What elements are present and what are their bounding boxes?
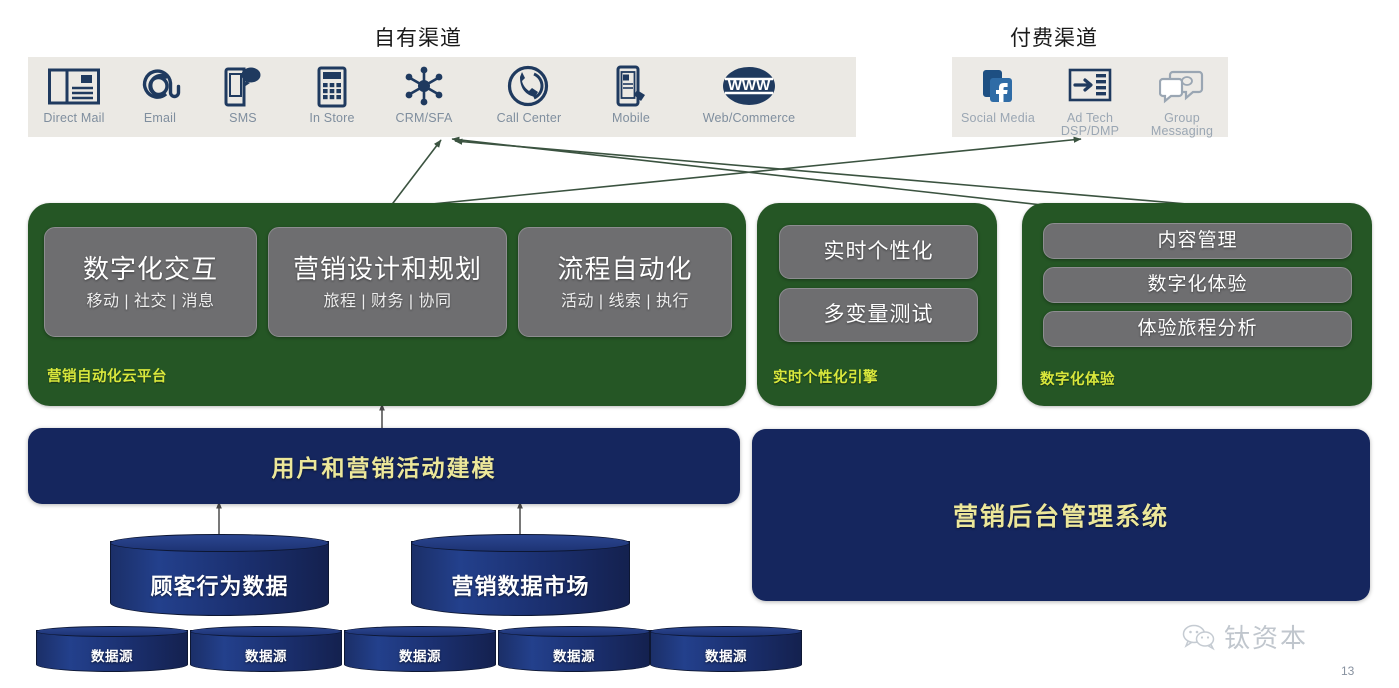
data-source-cylinder[interactable]: 数据源	[344, 626, 496, 672]
channel-label: Group Messaging	[1151, 112, 1213, 137]
in-store-keypad-icon	[315, 64, 349, 108]
capability-card-multivariate-testing[interactable]: 多变量测试	[779, 288, 978, 342]
channel-label: SMS	[229, 112, 257, 125]
card-title: 数字化体验	[1147, 270, 1247, 300]
www-globe-icon: WWW	[721, 65, 777, 108]
channel-in-store[interactable]: In Store	[286, 57, 378, 125]
channel-crm-sfa[interactable]: CRM/SFA	[378, 57, 470, 125]
direct-mail-icon	[48, 65, 100, 108]
crm-network-icon	[401, 64, 447, 108]
channel-label: Web/Commerce	[703, 112, 795, 125]
capability-card-realtime-personalization[interactable]: 实时个性化	[779, 225, 978, 279]
cylinder-label: 数据源	[650, 626, 802, 678]
channel-web-commerce[interactable]: WWWWeb/Commerce	[674, 57, 824, 125]
slide-canvas: 自有渠道 付费渠道 Direct Mail Email SMS	[0, 0, 1399, 688]
card-subtitle: 旅程 | 财务 | 协同	[323, 287, 451, 311]
ad-tech-list-icon	[1068, 66, 1113, 106]
channel-social-media[interactable]: Social Media	[952, 57, 1044, 125]
data-source-cylinder[interactable]: 数据源	[650, 626, 802, 672]
cylinder-label: 数据源	[498, 626, 650, 678]
channel-label: Email	[144, 112, 176, 125]
card-title: 实时个性化	[824, 237, 934, 267]
platform-label: 数字化体验	[1040, 368, 1115, 389]
facebook-social-icon	[980, 64, 1016, 108]
direct-mail-icon	[48, 64, 100, 108]
wechat-icon	[1182, 623, 1216, 651]
platform-box-digital-experience: 内容管理 数字化体验 体验旅程分析 数字化体验	[1022, 203, 1372, 406]
platform-box-realtime-personalization: 实时个性化 多变量测试 实时个性化引擎	[757, 203, 997, 406]
platform-label: 实时个性化引擎	[773, 366, 878, 387]
modeling-block: 用户和营销活动建模	[28, 428, 740, 504]
data-cylinder-marketing-data-market[interactable]: 营销数据市场	[411, 534, 630, 616]
card-title: 营销设计和规划	[293, 254, 482, 284]
backoffice-block-label: 营销后台管理系统	[953, 497, 1169, 533]
card-title: 内容管理	[1157, 226, 1237, 256]
crm-network-icon	[401, 65, 447, 108]
channel-label: Direct Mail	[43, 112, 104, 125]
data-source-cylinder[interactable]: 数据源	[190, 626, 342, 672]
group-messaging-icon	[1159, 64, 1206, 108]
call-center-phone-icon	[507, 64, 551, 108]
channel-label: CRM/SFA	[396, 112, 453, 125]
ad-tech-list-icon	[1068, 64, 1113, 108]
owned-channels-heading: 自有渠道	[374, 22, 462, 52]
card-title: 数字化交互	[83, 254, 218, 284]
svg-text:WWW: WWW	[728, 77, 771, 94]
channel-label: Mobile	[612, 112, 650, 125]
cylinder-label: 数据源	[36, 626, 188, 678]
modeling-block-label: 用户和营销活动建模	[272, 449, 497, 483]
cylinder-label: 顾客行为数据	[110, 534, 329, 626]
card-title: 多变量测试	[824, 300, 934, 330]
data-source-cylinder[interactable]: 数据源	[36, 626, 188, 672]
card-subtitle: 活动 | 线索 | 执行	[561, 287, 689, 311]
in-store-keypad-icon	[315, 65, 349, 108]
channel-call-center[interactable]: Call Center	[470, 57, 588, 125]
facebook-social-icon	[980, 66, 1016, 106]
channel-sms[interactable]: SMS	[200, 57, 286, 125]
page-number: 13	[1341, 664, 1354, 678]
capability-card-process-automation[interactable]: 流程自动化 活动 | 线索 | 执行	[518, 227, 732, 337]
watermark-text: 钛资本	[1224, 618, 1308, 655]
mobile-device-icon	[613, 65, 649, 108]
card-title: 流程自动化	[557, 254, 692, 284]
channel-mobile[interactable]: Mobile	[588, 57, 674, 125]
channel-label: In Store	[309, 112, 354, 125]
email-at-icon	[136, 64, 184, 108]
capability-card-digital-interaction[interactable]: 数字化交互 移动 | 社交 | 消息	[44, 227, 257, 337]
capability-card-digital-experience[interactable]: 数字化体验	[1043, 267, 1352, 303]
cylinder-label: 营销数据市场	[411, 534, 630, 626]
channel-label: Social Media	[961, 112, 1035, 125]
channel-label: Call Center	[497, 112, 562, 125]
channel-email[interactable]: Email	[120, 57, 200, 125]
data-cylinder-customer-behavior[interactable]: 顾客行为数据	[110, 534, 329, 616]
sms-phone-bubble-icon	[222, 65, 264, 108]
paid-channels-heading: 付费渠道	[1010, 22, 1098, 52]
data-source-cylinder[interactable]: 数据源	[498, 626, 650, 672]
capability-card-journey-analytics[interactable]: 体验旅程分析	[1043, 311, 1352, 347]
card-subtitle: 移动 | 社交 | 消息	[86, 287, 214, 311]
platform-label: 营销自动化云平台	[47, 365, 167, 386]
mobile-device-icon	[613, 64, 649, 108]
channel-group[interactable]: Group Messaging	[1136, 57, 1228, 137]
channel-ad-tech[interactable]: Ad Tech DSP/DMP	[1044, 57, 1136, 137]
group-messaging-icon	[1159, 66, 1206, 106]
cylinder-label: 数据源	[344, 626, 496, 678]
paid-channels-strip: Social Media Ad Tech DSP/DMP Group Messa…	[952, 57, 1228, 137]
watermark: 钛资本	[1182, 618, 1308, 655]
capability-card-content-management[interactable]: 内容管理	[1043, 223, 1352, 259]
channel-direct-mail[interactable]: Direct Mail	[28, 57, 120, 125]
capability-card-campaign-design[interactable]: 营销设计和规划 旅程 | 财务 | 协同	[268, 227, 507, 337]
channel-label: Ad Tech DSP/DMP	[1061, 112, 1119, 137]
call-center-phone-icon	[507, 65, 551, 108]
sms-phone-bubble-icon	[222, 64, 264, 108]
card-title: 体验旅程分析	[1137, 314, 1257, 344]
www-globe-icon: WWW	[721, 64, 777, 108]
cylinder-label: 数据源	[190, 626, 342, 678]
owned-channels-strip: Direct Mail Email SMS In St	[28, 57, 856, 137]
platform-box-marketing-automation: 数字化交互 移动 | 社交 | 消息 营销设计和规划 旅程 | 财务 | 协同 …	[28, 203, 746, 406]
backoffice-block: 营销后台管理系统	[752, 429, 1370, 601]
email-at-icon	[136, 65, 184, 108]
